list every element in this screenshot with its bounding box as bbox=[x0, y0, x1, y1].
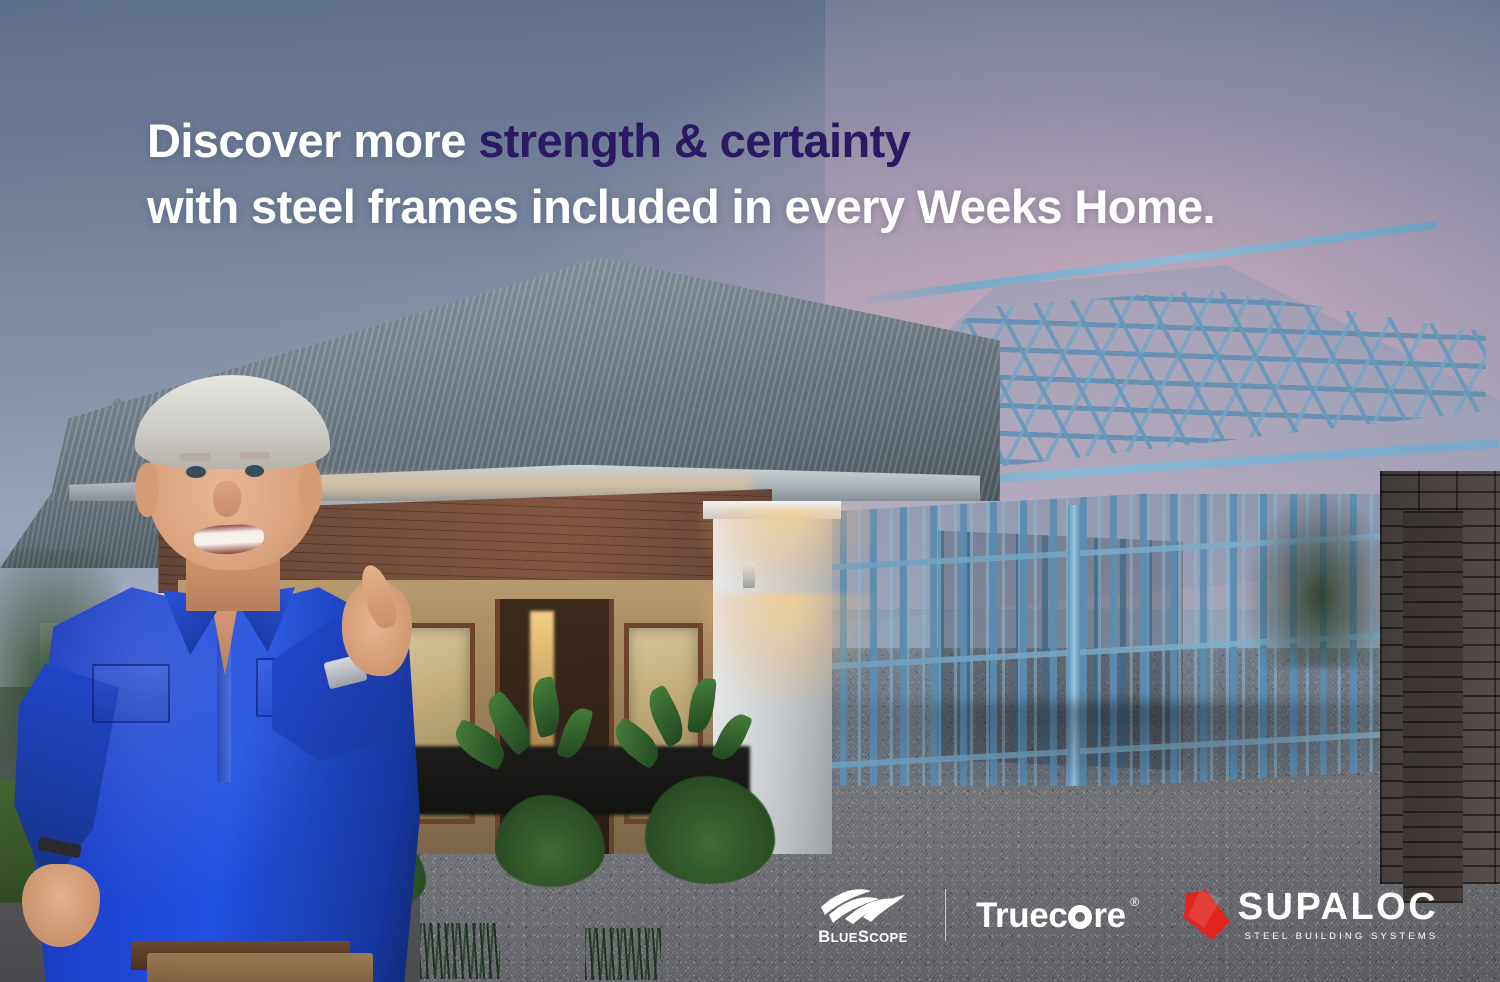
registered-mark: ® bbox=[1130, 896, 1138, 908]
supaloc-logo[interactable]: SUPALOC STEEL BUILDING SYSTEMS bbox=[1182, 888, 1438, 942]
headline-line1-accent: strength & certainty bbox=[478, 114, 910, 167]
background-tree-right bbox=[1245, 491, 1395, 668]
supaloc-tagline: STEEL BUILDING SYSTEMS bbox=[1238, 931, 1438, 942]
presenter-eyebrow-left bbox=[180, 453, 211, 461]
bs-b: B bbox=[818, 928, 830, 946]
bs-cope: COPE bbox=[869, 930, 907, 945]
headline-line2: with steel frames included in every Week… bbox=[147, 174, 1215, 240]
marketing-banner: Discover more strength & certainty with … bbox=[0, 0, 1500, 982]
truecore-part1: Truec bbox=[976, 896, 1067, 935]
presenter-eye-right bbox=[245, 465, 265, 477]
grass-tuft bbox=[585, 928, 661, 980]
presenter-ear-right bbox=[299, 463, 322, 516]
grass-tuft bbox=[420, 923, 500, 979]
headline-line1-prefix: Discover more bbox=[147, 114, 478, 167]
truecore-o-icon bbox=[1068, 905, 1092, 929]
truecore-wordmark: Truecre® bbox=[976, 898, 1126, 933]
presenter-eyebrow-right bbox=[239, 452, 270, 460]
supaloc-red-slash-icon bbox=[1182, 888, 1234, 942]
presenter-tool-belt bbox=[147, 953, 373, 982]
wall-light-downglow bbox=[698, 593, 876, 703]
headline: Discover more strength & certainty with … bbox=[147, 108, 1215, 240]
presenter-figure bbox=[30, 393, 420, 982]
truecore-part2: re bbox=[1093, 896, 1125, 935]
bluescope-logo[interactable]: BLUESCOPE bbox=[815, 885, 911, 946]
presenter-eye-left bbox=[186, 466, 206, 478]
partner-logo-bar: BLUESCOPE Truecre® SUPALOC STEEL BUILDIN… bbox=[815, 878, 1438, 952]
truecore-logo[interactable]: Truecre® bbox=[976, 898, 1126, 933]
bluescope-swoosh-icon bbox=[815, 885, 911, 925]
bs-s: S bbox=[858, 928, 869, 946]
supaloc-wordmark: SUPALOC bbox=[1238, 888, 1438, 926]
wall-light-upglow bbox=[698, 507, 876, 592]
presenter-nose bbox=[213, 481, 240, 516]
brick-wall-return bbox=[1403, 511, 1463, 904]
bluescope-wordmark: BLUESCOPE bbox=[818, 929, 907, 946]
bs-lue: LUE bbox=[831, 930, 858, 945]
supaloc-text-block: SUPALOC STEEL BUILDING SYSTEMS bbox=[1238, 888, 1438, 942]
shirt-pocket bbox=[92, 664, 170, 723]
presenter-ear-left bbox=[135, 463, 158, 516]
logo-divider bbox=[945, 889, 946, 941]
